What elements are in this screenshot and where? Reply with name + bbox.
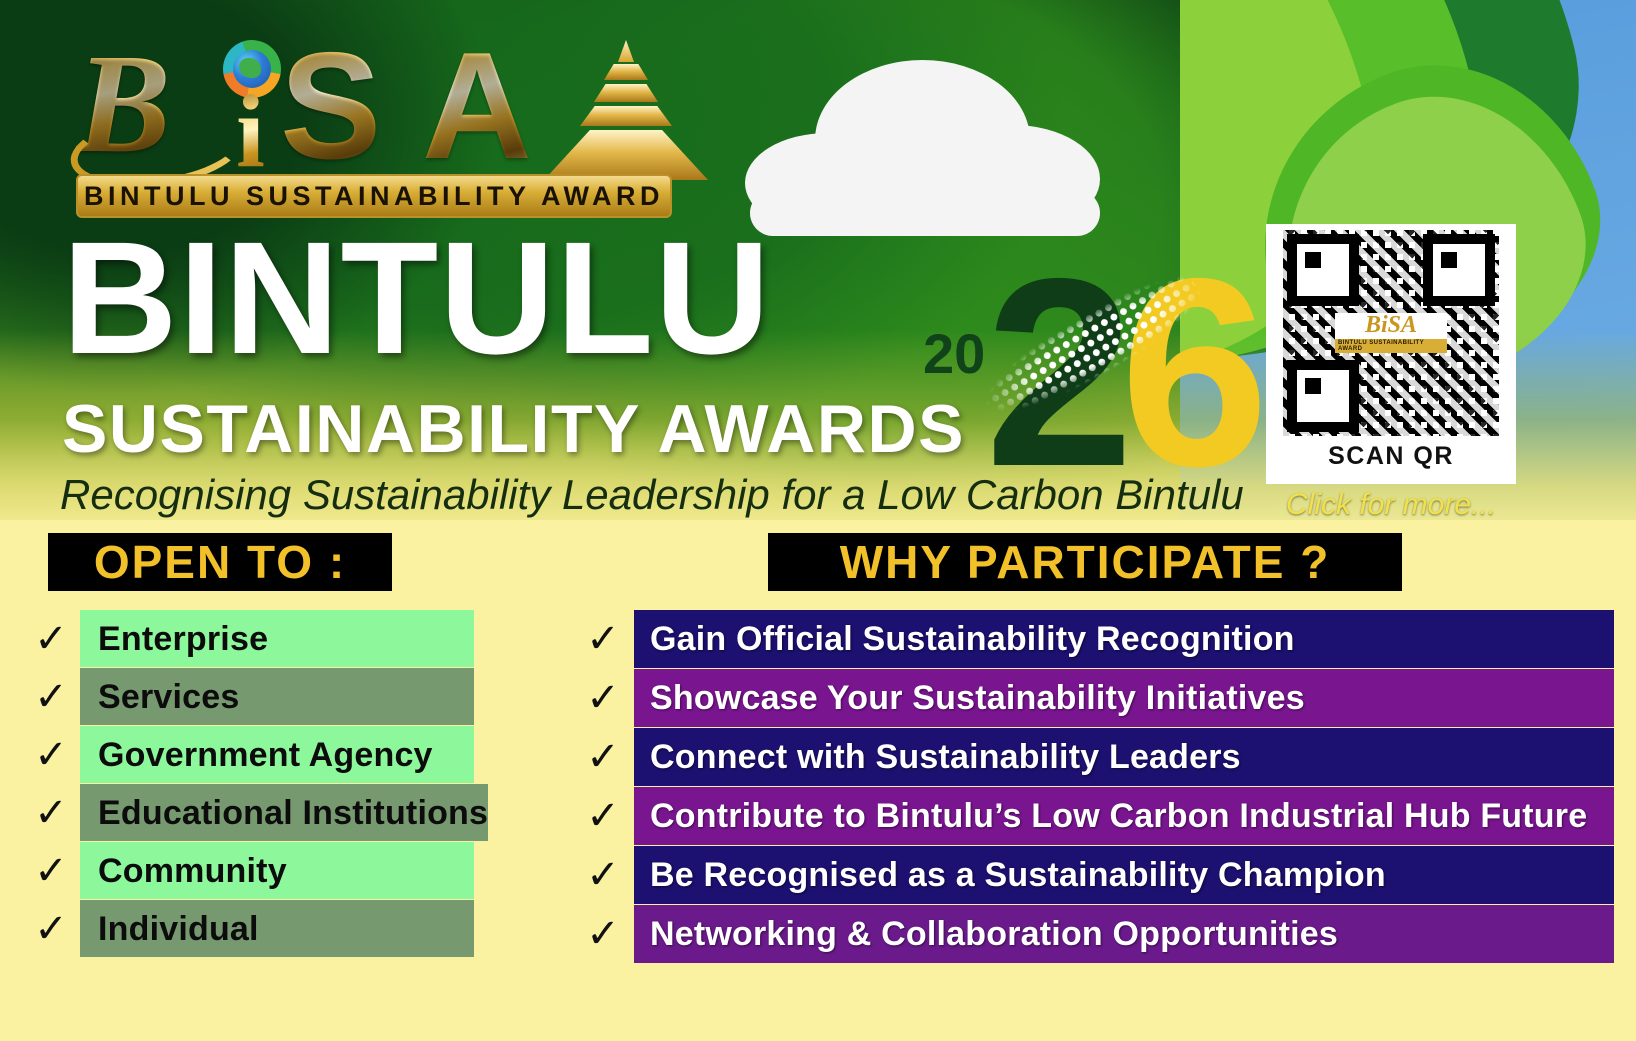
open-to-item: ✓Government Agency: [22, 726, 474, 783]
logo-letter-i: i: [236, 80, 265, 184]
open-to-item-bar: Government Agency: [80, 726, 474, 783]
year-graphic: 2 6 20: [905, 238, 1225, 503]
why-participate-item-bar: Connect with Sustainability Leaders: [634, 728, 1614, 786]
cloud-icon: [745, 55, 1105, 245]
bisa-logo[interactable]: B i S A BINTULU SUSTAINABILITY AWARD: [70, 22, 670, 217]
why-participate-item-label: Contribute to Bintulu’s Low Carbon Indus…: [650, 799, 1587, 833]
qr-logo-text: BiSA: [1365, 313, 1417, 337]
open-to-item-bar: Individual: [80, 900, 474, 957]
qr-card[interactable]: BiSA BINTULU SUSTAINABILITY AWARD SCAN Q…: [1266, 224, 1516, 484]
why-participate-list: ✓Gain Official Sustainability Recognitio…: [572, 610, 1614, 964]
why-participate-item-bar: Networking & Collaboration Opportunities: [634, 905, 1614, 963]
why-participate-item-label: Gain Official Sustainability Recognition: [650, 622, 1295, 656]
why-participate-heading-banner: WHY PARTICIPATE ?: [768, 533, 1402, 591]
check-icon: ✓: [22, 726, 80, 783]
open-to-heading-text: OPEN TO :: [94, 535, 346, 589]
why-participate-item-label: Connect with Sustainability Leaders: [650, 740, 1241, 774]
open-to-item: ✓Educational Institutions: [22, 784, 474, 841]
open-to-item: ✓Community: [22, 842, 474, 899]
poster-root: B i S A BINTULU SUSTAINABILITY AWARD BIN…: [0, 0, 1636, 1041]
why-participate-item: ✓Be Recognised as a Sustainability Champ…: [572, 846, 1614, 904]
open-to-item-label: Services: [98, 680, 240, 714]
year-digit-2: 2: [985, 238, 1134, 506]
qr-embedded-logo: BiSA BINTULU SUSTAINABILITY AWARD: [1335, 313, 1447, 353]
qr-code-icon[interactable]: BiSA BINTULU SUSTAINABILITY AWARD: [1283, 230, 1499, 436]
why-participate-item: ✓Showcase Your Sustainability Initiative…: [572, 669, 1614, 727]
check-icon: ✓: [572, 669, 634, 727]
qr-logo-subtext: BINTULU SUSTAINABILITY AWARD: [1335, 339, 1447, 353]
check-icon: ✓: [572, 610, 634, 668]
check-icon: ✓: [22, 842, 80, 899]
why-participate-item-label: Showcase Your Sustainability Initiatives: [650, 681, 1305, 715]
check-icon: ✓: [572, 787, 634, 845]
logo-banner-text: BINTULU SUSTAINABILITY AWARD: [84, 181, 664, 212]
why-participate-item-label: Be Recognised as a Sustainability Champi…: [650, 858, 1386, 892]
check-icon: ✓: [572, 905, 634, 963]
open-to-item: ✓Enterprise: [22, 610, 474, 667]
check-icon: ✓: [22, 610, 80, 667]
why-participate-item: ✓Networking & Collaboration Opportunitie…: [572, 905, 1614, 963]
logo-letter-s: S: [280, 30, 381, 182]
open-to-item-label: Government Agency: [98, 738, 433, 772]
qr-caption: SCAN QR: [1328, 442, 1454, 471]
open-to-item-label: Enterprise: [98, 622, 268, 656]
check-icon: ✓: [572, 846, 634, 904]
why-participate-item: ✓Connect with Sustainability Leaders: [572, 728, 1614, 786]
open-to-item-bar: Educational Institutions: [80, 784, 488, 841]
why-participate-item-bar: Be Recognised as a Sustainability Champi…: [634, 846, 1614, 904]
page-title: BINTULU: [62, 218, 771, 378]
check-icon: ✓: [22, 900, 80, 957]
open-to-item-label: Educational Institutions: [98, 796, 488, 830]
logo-letter-a: A: [422, 30, 532, 182]
why-participate-item-bar: Showcase Your Sustainability Initiatives: [634, 669, 1614, 727]
check-icon: ✓: [22, 784, 80, 841]
why-participate-item-label: Networking & Collaboration Opportunities: [650, 917, 1338, 951]
open-to-list: ✓Enterprise✓Services✓Government Agency✓E…: [22, 610, 474, 958]
why-participate-item-bar: Gain Official Sustainability Recognition: [634, 610, 1614, 668]
year-digit-6: 6: [1120, 238, 1269, 506]
qr-click-for-more[interactable]: Click for more...: [1266, 488, 1516, 522]
open-to-item-bar: Services: [80, 668, 474, 725]
why-participate-item: ✓Gain Official Sustainability Recognitio…: [572, 610, 1614, 668]
open-to-item: ✓Services: [22, 668, 474, 725]
pyramid-tower-icon: [532, 40, 722, 180]
why-participate-item-bar: Contribute to Bintulu’s Low Carbon Indus…: [634, 787, 1614, 845]
why-participate-heading-text: WHY PARTICIPATE ?: [840, 535, 1331, 589]
open-to-item-bar: Community: [80, 842, 474, 899]
open-to-item-label: Community: [98, 854, 287, 888]
open-to-heading-banner: OPEN TO :: [48, 533, 392, 591]
page-subtitle: SUSTAINABILITY AWARDS: [62, 395, 965, 463]
open-to-item-bar: Enterprise: [80, 610, 474, 667]
open-to-item: ✓Individual: [22, 900, 474, 957]
check-icon: ✓: [22, 668, 80, 725]
check-icon: ✓: [572, 728, 634, 786]
open-to-item-label: Individual: [98, 912, 259, 946]
year-prefix: 20: [923, 326, 985, 382]
why-participate-item: ✓Contribute to Bintulu’s Low Carbon Indu…: [572, 787, 1614, 845]
logo-mark: B i S A: [70, 22, 670, 172]
